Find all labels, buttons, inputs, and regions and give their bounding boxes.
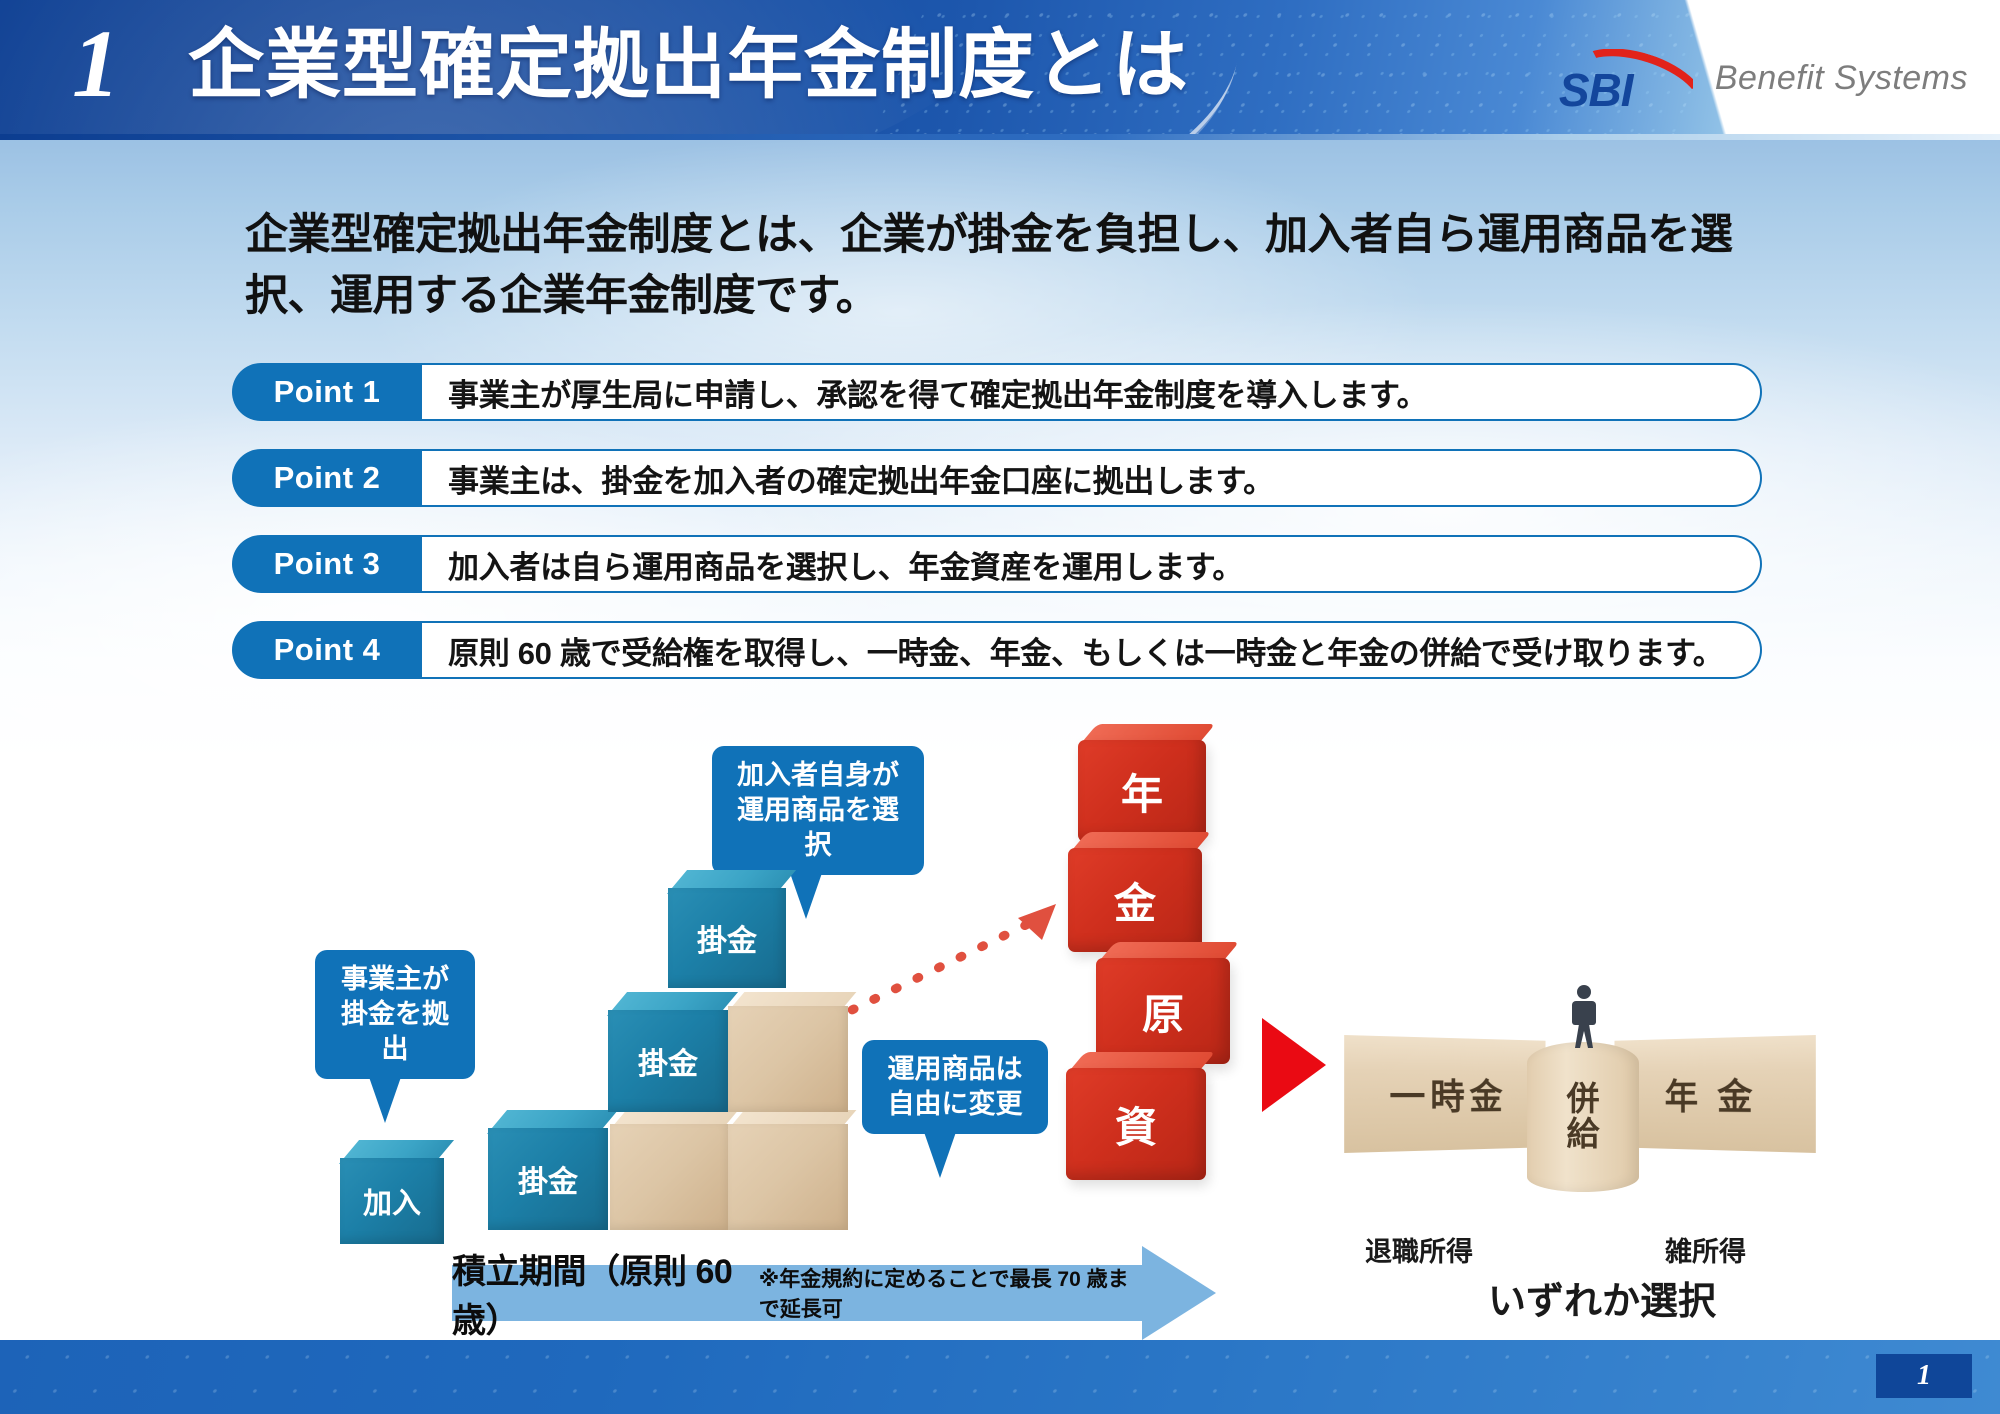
point-badge: Point 1 [232, 363, 422, 421]
callout-line: 事業主が [335, 962, 455, 997]
person-figure-icon [1567, 984, 1601, 1050]
pillar-line: 給 [1567, 1117, 1600, 1152]
wood-block [728, 992, 848, 1112]
cube-label: 加入 [340, 1158, 444, 1244]
sbi-logo-mark: SBI [1553, 47, 1701, 109]
point-badge: Point 4 [232, 621, 422, 679]
callout-participant-selects: 加入者自身が 運用商品を選択 [712, 746, 924, 875]
slide-header: 1 企業型確定拠出年金制度とは SBI Benefit Systems [0, 0, 2000, 140]
callout-employer-contributes: 事業主が 掛金を拠出 [315, 950, 475, 1079]
footer-dot-pattern [0, 1340, 2000, 1414]
sbi-logo-letters: SBI [1559, 63, 1633, 117]
block-label: 原 [1096, 958, 1230, 1064]
callout-line: 自由に変更 [882, 1087, 1028, 1122]
wood-block-front [728, 1124, 848, 1230]
payout-lumpsum-tax-label: 退職所得 [1365, 1230, 1473, 1269]
wood-block-front [610, 1124, 730, 1230]
sbi-logo-wordmark: Benefit Systems [1715, 59, 1968, 98]
callout-tail [924, 1132, 956, 1178]
point-text: 原則 60 歳で受給権を取得し、一時金、年金、もしくは一時金と年金の併給で受け取… [422, 621, 1762, 679]
page-title: 企業型確定拠出年金制度とは [188, 26, 1189, 106]
pension-block: 原 [1096, 942, 1230, 1064]
accumulation-period-label: 積立期間（原則 60 歳） [452, 1244, 753, 1342]
contribution-cube: 掛金 [608, 992, 728, 1112]
section-number: 1 [72, 16, 116, 112]
point-row: Point 4 原則 60 歳で受給権を取得し、一時金、年金、もしくは一時金と年… [232, 621, 1762, 679]
accumulation-period-bar: 積立期間（原則 60 歳） ※年金規約に定めることで最長 70 歳まで延長可 [452, 1265, 1142, 1321]
contribution-cube: 掛金 [668, 870, 786, 988]
header-underline [0, 134, 2000, 140]
intro-paragraph: 企業型確定拠出年金制度とは、企業が掛金を負担し、加入者自ら運用商品を選択、運用す… [245, 205, 1785, 327]
point-text: 事業主が厚生局に申請し、承認を得て確定拠出年金制度を導入します。 [422, 363, 1762, 421]
point-text: 加入者は自ら運用商品を選択し、年金資産を運用します。 [422, 535, 1762, 593]
callout-line: 加入者自身が [732, 758, 904, 793]
accumulation-period-note: ※年金規約に定めることで最長 70 歳まで延長可 [759, 1263, 1142, 1323]
accumulation-arrow-head-icon [1142, 1246, 1216, 1340]
slide-footer: 1 [0, 1340, 2000, 1414]
payout-illustration: 一時金 年 金 併 給 [1345, 990, 1815, 1240]
sbi-logo: SBI Benefit Systems [1553, 46, 1968, 110]
point-text: 事業主は、掛金を加入者の確定拠出年金口座に拠出します。 [422, 449, 1762, 507]
play-triangle-icon [1262, 1018, 1326, 1112]
pension-block: 年 [1078, 724, 1206, 842]
callout-line: 運用商品を選択 [732, 793, 904, 863]
wood-block-front [728, 1006, 848, 1112]
slide-root: 1 企業型確定拠出年金制度とは SBI Benefit Systems 企業型確… [0, 0, 2000, 1414]
wood-block [610, 1110, 730, 1230]
block-label: 金 [1068, 848, 1202, 952]
point-row: Point 1 事業主が厚生局に申請し、承認を得て確定拠出年金制度を導入します。 [232, 363, 1762, 421]
callout-tail [369, 1077, 401, 1123]
join-cube: 加入 [340, 1140, 444, 1244]
pillar-line: 併 [1567, 1082, 1600, 1117]
point-badge: Point 3 [232, 535, 422, 593]
block-label: 資 [1066, 1068, 1206, 1180]
payout-lumpsum-beam: 一時金 [1344, 1035, 1545, 1153]
payout-choose-label: いずれか選択 [1488, 1270, 1716, 1325]
contribution-cube: 掛金 [488, 1110, 608, 1230]
cube-label: 掛金 [608, 1010, 728, 1112]
payout-annuity-beam: 年 金 [1614, 1035, 1815, 1153]
cube-label: 掛金 [488, 1128, 608, 1230]
concept-diagram: 加入者自身が 運用商品を選択 事業主が 掛金を拠出 運用商品は 自由に変更 [0, 700, 2000, 1340]
block-label: 年 [1078, 740, 1206, 842]
point-badge: Point 2 [232, 449, 422, 507]
payout-combined-pillar: 併 給 [1527, 1042, 1639, 1192]
point-row: Point 2 事業主は、掛金を加入者の確定拠出年金口座に拠出します。 [232, 449, 1762, 507]
points-list: Point 1 事業主が厚生局に申請し、承認を得て確定拠出年金制度を導入します。… [232, 363, 1762, 707]
page-number: 1 [1876, 1354, 1972, 1398]
payout-annuity-tax-label: 雑所得 [1665, 1230, 1746, 1269]
point-row: Point 3 加入者は自ら運用商品を選択し、年金資産を運用します。 [232, 535, 1762, 593]
pension-block: 資 [1066, 1052, 1206, 1180]
cube-label: 掛金 [668, 888, 786, 988]
wood-block [728, 1110, 848, 1230]
callout-line: 掛金を拠出 [335, 997, 455, 1067]
pension-block: 金 [1068, 832, 1202, 952]
